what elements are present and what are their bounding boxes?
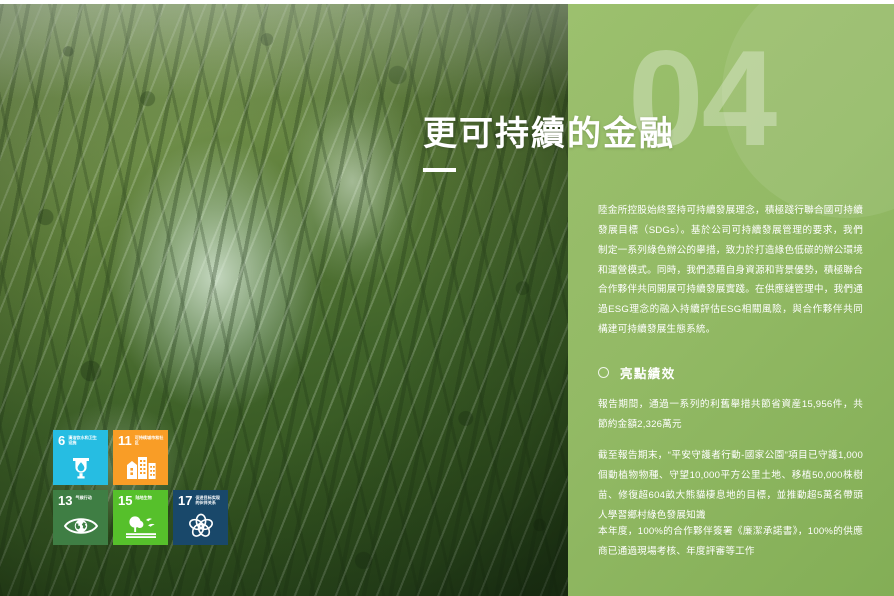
water-sanitation-icon bbox=[53, 451, 108, 481]
sdg-tile-6[interactable]: 6 清洁饮水和卫生设施 bbox=[53, 430, 108, 485]
intro-paragraph: 陸金所控股始終堅持可持續發展理念，積極踐行聯合國可持續發展目標（SDGs）。基於… bbox=[598, 201, 863, 340]
sdg-head: 13 气候行动 bbox=[58, 494, 104, 507]
sdg-icon-grid: 6 清洁饮水和卫生设施 11 可持续城市和社区 bbox=[53, 430, 229, 550]
slide-page: 04 陸金所控股始終堅持可持續發展理念，積極踐行聯合國可持續發展目標（SDGs）… bbox=[0, 0, 894, 596]
sdg-label: 促进目标实现的伙伴关系 bbox=[195, 494, 224, 506]
sdg-label: 清洁饮水和卫生设施 bbox=[68, 434, 99, 446]
sdg-number: 13 bbox=[58, 494, 72, 507]
sdg-head: 17 促进目标实现的伙伴关系 bbox=[178, 494, 224, 507]
page-title: 更可持續的金融 bbox=[423, 116, 675, 153]
climate-eye-globe-icon bbox=[53, 511, 108, 541]
highlight-paragraph: 截至報告期末，“平安守護者行動-國家公園”項目已守護1,000個動植物物種、守望… bbox=[598, 446, 863, 525]
circle-outline-icon bbox=[598, 367, 609, 378]
sdg-tile-15[interactable]: 15 陆地生物 bbox=[113, 490, 168, 545]
partnership-rings-icon bbox=[173, 511, 228, 541]
sdg-head: 15 陆地生物 bbox=[118, 494, 164, 507]
green-content-panel: 04 陸金所控股始終堅持可持續發展理念，積極踐行聯合國可持續發展目標（SDGs）… bbox=[568, 4, 894, 596]
highlights-heading: 亮點績效 bbox=[598, 363, 676, 382]
sdg-number: 15 bbox=[118, 494, 132, 507]
sdg-tile-13[interactable]: 13 气候行动 bbox=[53, 490, 108, 545]
sdg-head: 11 可持续城市和社区 bbox=[118, 434, 164, 447]
sdg-tile-11[interactable]: 11 可持续城市和社区 bbox=[113, 430, 168, 485]
sdg-tile-17[interactable]: 17 促进目标实现的伙伴关系 bbox=[173, 490, 228, 545]
sdg-row: 13 气候行动 15 陆地生物 bbox=[53, 490, 229, 545]
sdg-number: 11 bbox=[118, 434, 132, 447]
title-underline-rule bbox=[423, 168, 456, 172]
highlight-paragraph: 報告期間，通過一系列的利舊舉措共節省資産15,956件，共節約金額2,326萬元 bbox=[598, 395, 863, 435]
sdg-label: 可持续城市和社区 bbox=[135, 434, 164, 446]
sdg-label: 气候行动 bbox=[75, 494, 104, 500]
title-block: 更可持續的金融 bbox=[423, 116, 675, 172]
sdg-label: 陆地生物 bbox=[135, 494, 164, 500]
sdg-head: 6 清洁饮水和卫生设施 bbox=[58, 434, 104, 447]
sdg-row: 6 清洁饮水和卫生设施 11 可持续城市和社区 bbox=[53, 430, 229, 485]
sdg-number: 17 bbox=[178, 494, 192, 507]
highlight-paragraph: 本年度，100%的合作夥伴簽署《廉潔承諾書》，100%的供應商已通過現場考核、年… bbox=[598, 522, 863, 562]
highlights-heading-label: 亮點績效 bbox=[620, 363, 676, 382]
city-buildings-icon bbox=[113, 451, 168, 481]
sdg-number: 6 bbox=[58, 434, 65, 447]
land-tree-birds-icon bbox=[113, 511, 168, 541]
